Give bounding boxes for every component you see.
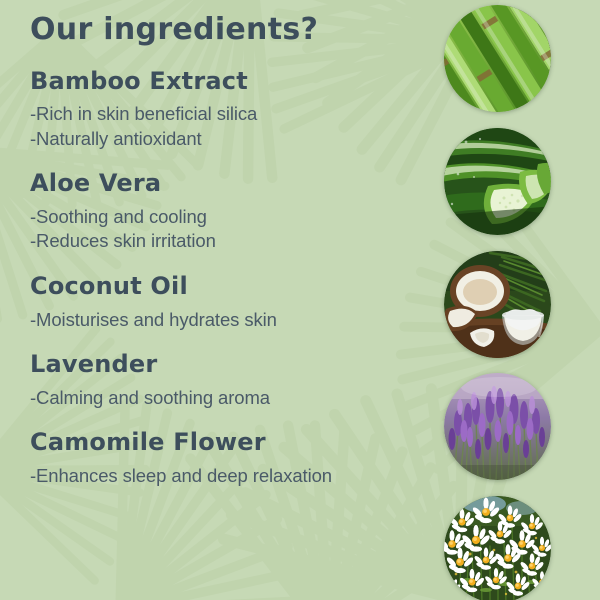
ingredient-name: Coconut Oil <box>30 273 440 301</box>
page-title: Our ingredients? <box>30 14 440 46</box>
ingredient-benefit: -Reduces skin irritation <box>30 229 440 254</box>
ingredient-benefit: -Naturally antioxidant <box>30 127 440 152</box>
ingredient-name: Camomile Flower <box>30 429 440 457</box>
aloe-vera-photo <box>444 128 551 235</box>
coconut-oil-photo <box>444 251 551 358</box>
ingredient-benefit: -Soothing and cooling <box>30 205 440 230</box>
ingredient-coconut-oil: Coconut Oil -Moisturises and hydrates sk… <box>30 273 440 332</box>
ingredient-bamboo-extract: Bamboo Extract -Rich in skin beneficial … <box>30 68 440 152</box>
ingredient-lavender: Lavender -Calming and soothing aroma <box>30 351 440 410</box>
ingredient-benefit: -Calming and soothing aroma <box>30 386 440 411</box>
camomile-flower-photo <box>444 496 551 600</box>
ingredient-name: Lavender <box>30 351 440 379</box>
ingredient-benefit: -Moisturises and hydrates skin <box>30 308 440 333</box>
ingredient-benefit: -Rich in skin beneficial silica <box>30 102 440 127</box>
bamboo-photo <box>444 5 551 112</box>
ingredient-camomile-flower: Camomile Flower -Enhances sleep and deep… <box>30 429 440 488</box>
ingredient-benefit: -Enhances sleep and deep relaxation <box>30 464 440 489</box>
ingredient-image-column <box>440 0 600 600</box>
ingredient-text-column: Our ingredients? Bamboo Extract -Rich in… <box>0 0 440 600</box>
ingredient-name: Bamboo Extract <box>30 68 440 96</box>
ingredient-aloe-vera: Aloe Vera -Soothing and cooling -Reduces… <box>30 170 440 254</box>
ingredients-poster: Our ingredients? Bamboo Extract -Rich in… <box>0 0 600 600</box>
ingredient-name: Aloe Vera <box>30 170 440 198</box>
lavender-photo <box>444 373 551 480</box>
poster-content: Our ingredients? Bamboo Extract -Rich in… <box>0 0 600 600</box>
